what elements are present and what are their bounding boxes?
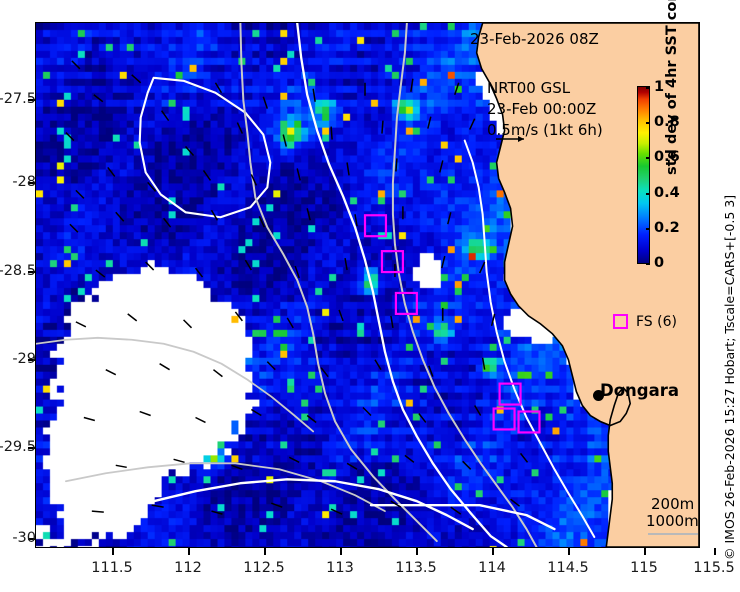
depth-1000m-label: 1000m	[646, 512, 699, 530]
depth-scale-rule	[648, 533, 698, 535]
colorbar-tick	[646, 157, 650, 159]
fs-legend-swatch	[613, 314, 628, 329]
depth-200m-label: 200m	[651, 495, 694, 513]
title-date: 23-Feb-2026 08Z	[470, 30, 599, 48]
x-tick-label: 115	[630, 560, 658, 576]
dongara-place-label: Dongara	[600, 381, 679, 400]
x-tick-mark	[568, 548, 570, 555]
x-tick-mark	[340, 548, 342, 555]
contour-southwest	[36, 338, 313, 432]
x-tick-mark	[714, 548, 716, 555]
x-tick-mark	[112, 548, 114, 555]
fs-box-5	[494, 409, 515, 430]
x-tick-mark	[492, 548, 494, 555]
x-tick-label: 113.5	[395, 560, 437, 576]
colorbar-tick-label: 1	[654, 79, 664, 95]
colorbar-tick	[646, 122, 650, 124]
x-tick-label: 112	[174, 560, 202, 576]
x-tick-label: 115.5	[693, 560, 735, 576]
colorbar-tick-label: 0.4	[654, 185, 680, 201]
y-tick-label: -27.5	[0, 91, 36, 107]
x-tick-label: 114	[478, 560, 506, 576]
y-tick-label: -30	[12, 530, 36, 546]
copyright-notice: © IMOS 26-Feb-2026 15:27 Hobart; Tscale=…	[722, 195, 737, 560]
y-tick-label: -29.5	[0, 439, 36, 455]
x-tick-mark	[644, 548, 646, 555]
contour-south	[66, 463, 385, 511]
y-tick-label: -29	[12, 351, 36, 367]
reference-vector-arrow	[494, 132, 534, 146]
current-vectors	[66, 61, 528, 514]
colorbar-tick-label: 0.2	[654, 220, 680, 236]
contour-horizontal	[371, 505, 554, 529]
colorbar-title: std dev of 4hr SST comp	[664, 0, 680, 175]
contour-closed-eddy	[140, 78, 271, 217]
y-tick-label: -28.5	[0, 263, 36, 279]
x-tick-mark	[188, 548, 190, 555]
model-time-label: 23-Feb 00:00Z	[487, 99, 603, 120]
colorbar-tick-label: 0	[654, 255, 664, 271]
x-tick-label: 113	[326, 560, 354, 576]
colorbar-tick	[646, 228, 650, 230]
colorbar-tick	[646, 87, 650, 89]
x-tick-label: 114.5	[547, 560, 589, 576]
x-tick-mark	[264, 548, 266, 555]
colorbar-tick	[646, 263, 650, 265]
x-tick-label: 112.5	[243, 560, 285, 576]
fs-box-2	[382, 251, 403, 272]
y-tick-label: -28	[12, 174, 36, 190]
x-tick-label: 111.5	[91, 560, 133, 576]
fs-box-1	[365, 215, 386, 236]
contour-200m-west	[240, 23, 436, 541]
model-name-label: NRT00 GSL	[487, 78, 603, 99]
x-tick-mark	[416, 548, 418, 555]
fs-legend-label: FS (6)	[636, 314, 677, 330]
colorbar-gradient	[637, 86, 650, 264]
colorbar-tick	[646, 193, 650, 195]
